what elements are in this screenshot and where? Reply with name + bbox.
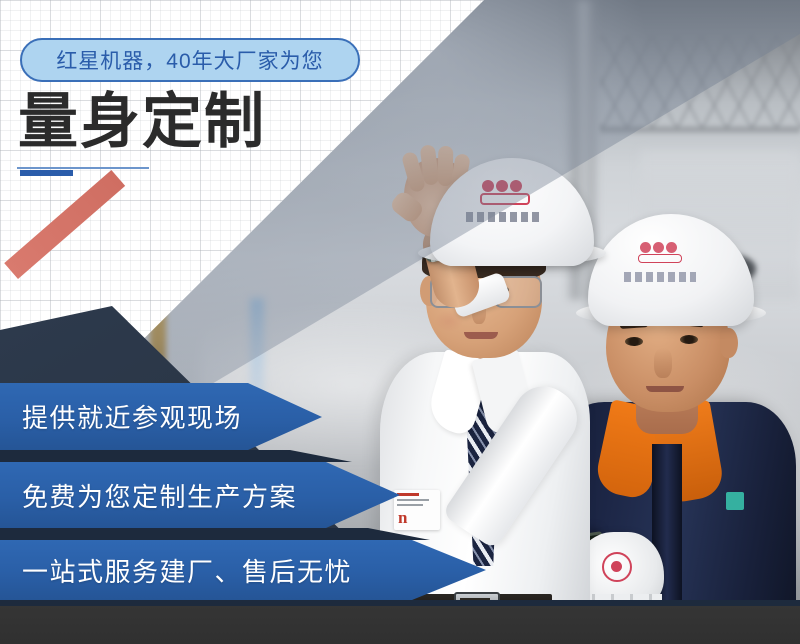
bottom-charcoal-strip bbox=[0, 606, 800, 644]
feature-bar-shadow-2 bbox=[0, 528, 430, 540]
feature-label-1: 提供就近参观现场 bbox=[22, 398, 242, 435]
hard-hat-logo-icon bbox=[636, 240, 682, 266]
reflective-tab bbox=[726, 492, 744, 510]
title-rule-thin bbox=[17, 167, 149, 169]
feature-bar-shadow-1 bbox=[0, 450, 352, 462]
feature-label-2: 免费为您定制生产方案 bbox=[22, 477, 297, 514]
tagline-badge: 红星机器，40年大厂家为您 bbox=[20, 38, 360, 82]
page-title: 量身定制 bbox=[18, 92, 266, 152]
tagline-badge-label: 红星机器，40年大厂家为您 bbox=[56, 45, 323, 75]
mouth bbox=[646, 386, 684, 392]
ear bbox=[720, 328, 738, 358]
id-badge: n bbox=[394, 490, 440, 530]
feature-label-3: 一站式服务建厂、售后无忧 bbox=[22, 552, 352, 589]
title-rule-thick bbox=[20, 170, 73, 176]
promo-banner: n 红星机器，40年大厂家为您 量身定制 提供就近参观现场 免费为您定制生产方案 bbox=[0, 0, 800, 644]
nose bbox=[654, 348, 672, 378]
feature-bar-3: 一站式服务建厂、售后无忧 bbox=[0, 540, 486, 600]
mouth bbox=[464, 332, 498, 339]
hard-hat-logo-text bbox=[624, 272, 696, 282]
eye-right bbox=[680, 335, 698, 344]
feature-bar-2: 免费为您定制生产方案 bbox=[0, 462, 400, 528]
